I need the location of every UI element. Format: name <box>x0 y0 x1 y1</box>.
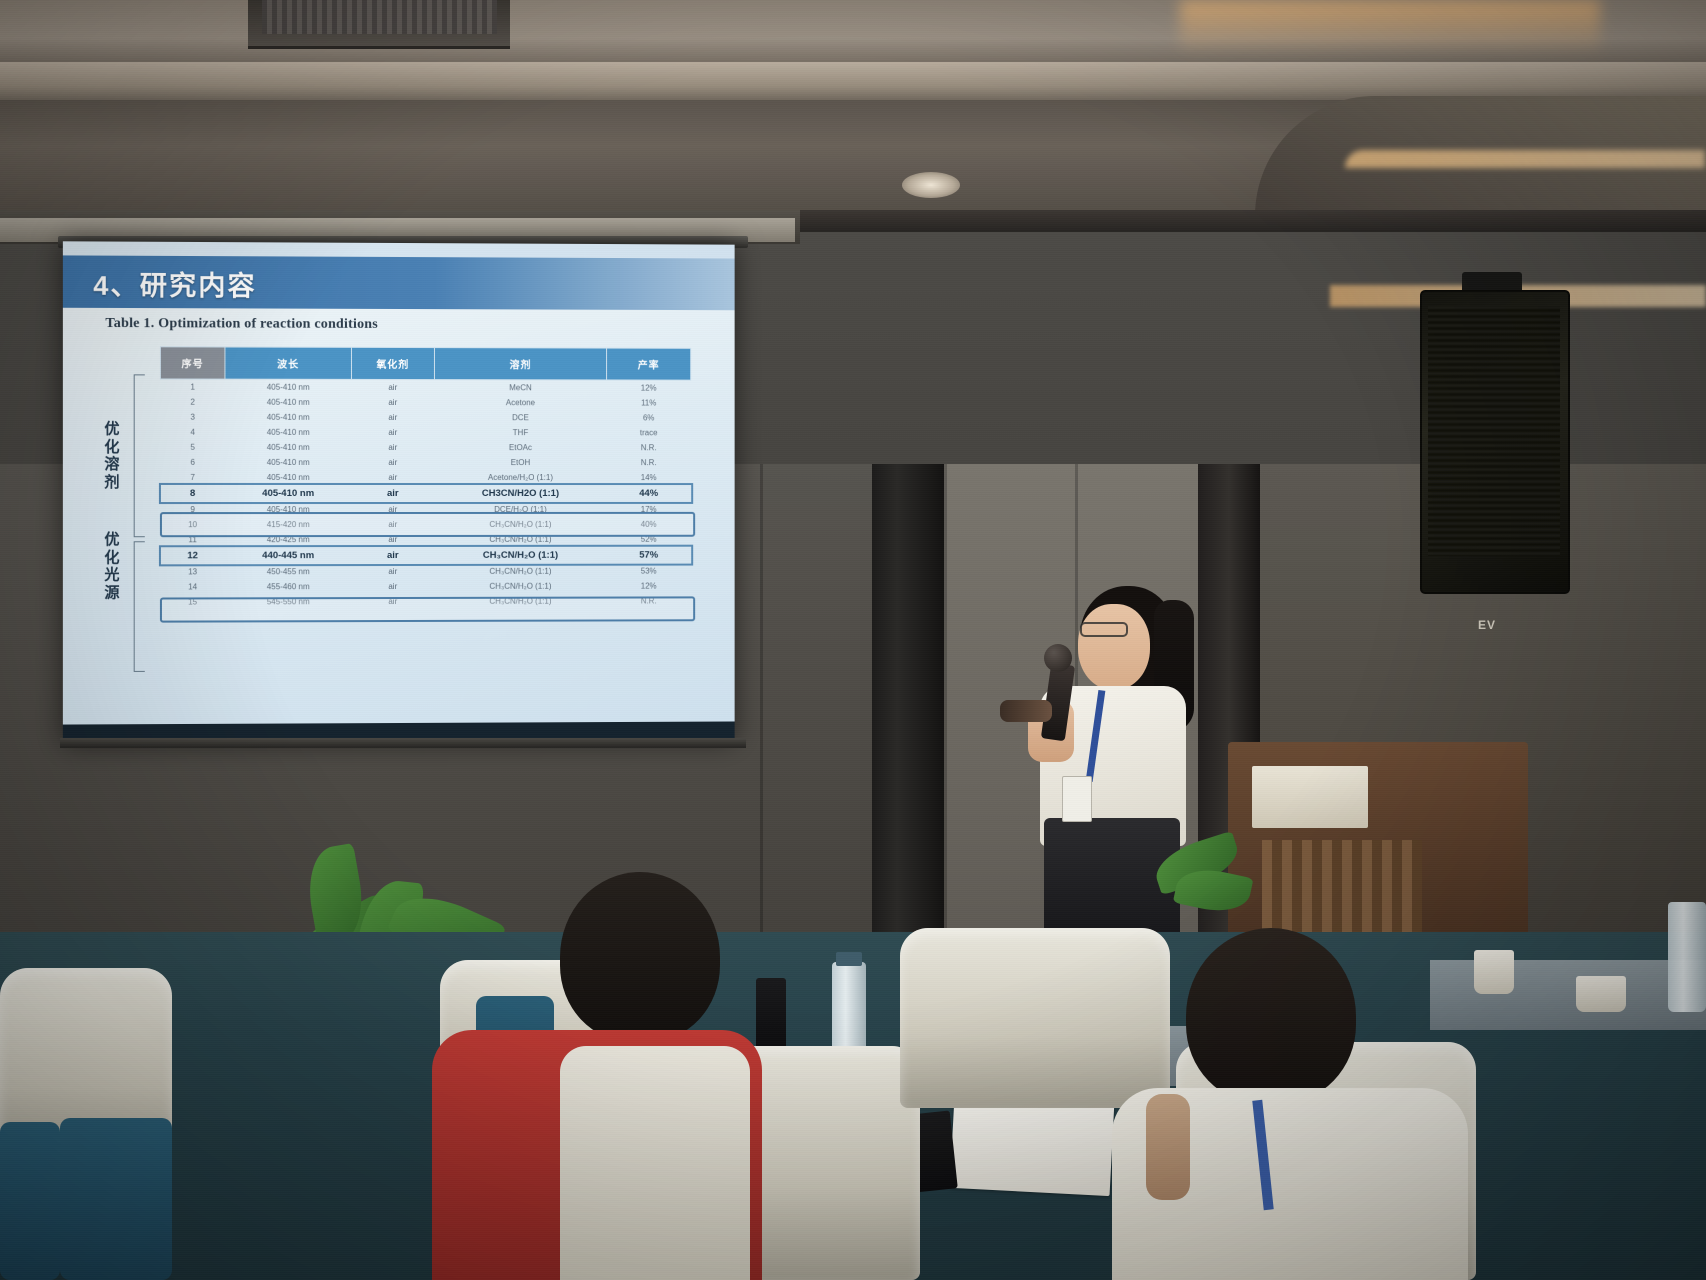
cell-yield: 57% <box>607 547 691 564</box>
cell-wavelength: 405-410 nm <box>225 470 352 485</box>
cell-solvent: CH₃CN/H₂O (1:1) <box>434 532 607 547</box>
cell-entry: 3 <box>160 410 224 425</box>
cell-entry: 5 <box>160 440 224 455</box>
chair <box>900 928 1170 1108</box>
cell-oxidant: air <box>351 470 434 485</box>
ceiling-cove-light-right <box>1180 0 1600 54</box>
conference-room-photo: EV 4、研究内容 Table 1. Optimization of react… <box>0 0 1706 1280</box>
cell-entry: 9 <box>160 502 224 517</box>
chair-back-overlap <box>560 1046 750 1280</box>
cell-entry: 15 <box>160 594 224 609</box>
cell-yield: N.R. <box>607 440 691 455</box>
cell-solvent: Acetone/H₂O (1:1) <box>434 470 607 485</box>
table-row: 6405-410 nmairEtOHN.R. <box>160 455 690 470</box>
table-row: 5405-410 nmairEtOAcN.R. <box>160 440 690 455</box>
microphone-head <box>1044 644 1072 672</box>
audience-head <box>560 872 720 1042</box>
cell-entry: 7 <box>160 470 224 485</box>
cell-solvent: EtOAc <box>434 440 607 455</box>
cell-oxidant: air <box>351 547 434 564</box>
cell-yield: 6% <box>607 410 691 425</box>
cell-solvent: CH₃CN/H₂O (1:1) <box>434 547 607 564</box>
table-row: 2405-410 nmairAcetone11% <box>160 395 690 411</box>
cell-solvent: CH3CN/H2O (1:1) <box>434 485 607 502</box>
table-caption: Table 1. Optimization of reaction condit… <box>105 316 378 333</box>
audience-head <box>1186 928 1356 1104</box>
cell-entry: 1 <box>160 379 224 395</box>
cell-oxidant: air <box>351 594 434 609</box>
cell-yield: 12% <box>607 579 691 594</box>
water-bottle <box>832 962 866 1054</box>
projection-screen: 4、研究内容 Table 1. Optimization of reaction… <box>63 241 735 744</box>
table-row: 3405-410 nmairDCE6% <box>160 410 690 426</box>
chair-back-dark <box>60 1118 172 1280</box>
group-label-solvent: 优化溶剂 <box>101 421 123 492</box>
cell-wavelength: 545-550 nm <box>225 594 352 609</box>
cell-solvent: CH₃CN/H₂O (1:1) <box>434 579 607 594</box>
table-row: 7405-410 nmairAcetone/H₂O (1:1)14% <box>160 470 690 485</box>
cell-wavelength: 440-445 nm <box>225 547 352 564</box>
table-header: 序号 波长 氧化剂 溶剂 产率 <box>160 347 690 380</box>
podium-plaque <box>1252 766 1368 828</box>
cell-oxidant: air <box>351 517 434 532</box>
group-label-light: 优化光源 <box>101 531 123 602</box>
cell-wavelength: 415-420 nm <box>225 517 352 532</box>
cell-solvent: DCE/H₂O (1:1) <box>434 502 607 517</box>
cell-yield: 14% <box>607 470 691 485</box>
table-row: 15545-550 nmairCH₃CN/H₂O (1:1)N.R. <box>160 593 690 609</box>
podium-slats <box>1262 840 1422 936</box>
cell-solvent: CH₃CN/H₂O (1:1) <box>434 594 607 609</box>
table-header-row: 序号 波长 氧化剂 溶剂 产率 <box>160 347 690 380</box>
col-header-yield: 产率 <box>607 348 691 380</box>
cell-solvent: MeCN <box>434 380 607 396</box>
cell-oxidant: air <box>351 425 434 440</box>
side-desk <box>1430 960 1706 1030</box>
cell-wavelength: 455-460 nm <box>225 579 352 594</box>
cell-entry: 13 <box>160 564 224 579</box>
cell-entry: 11 <box>160 532 224 547</box>
paper-cup <box>1576 976 1626 1012</box>
table-row: 9405-410 nmairDCE/H₂O (1:1)17% <box>160 502 690 517</box>
presenter-badge <box>1062 776 1092 822</box>
cell-yield: trace <box>607 425 691 440</box>
ceiling-vent <box>248 0 510 49</box>
ceiling-cove-light <box>530 0 1230 62</box>
paper-cup <box>1474 950 1514 994</box>
presenter-face <box>1078 604 1150 690</box>
cell-oxidant: air <box>351 532 434 547</box>
cell-wavelength: 405-410 nm <box>225 440 352 455</box>
pa-speaker <box>1420 290 1570 594</box>
cell-oxidant: air <box>351 395 434 410</box>
slide-surface: 4、研究内容 Table 1. Optimization of reaction… <box>63 241 735 724</box>
slide-title: 4、研究内容 <box>93 264 256 304</box>
ceiling <box>0 0 1706 232</box>
cell-solvent: THF <box>434 425 607 440</box>
table-body: 1405-410 nmairMeCN12%2405-410 nmairAceto… <box>160 379 690 610</box>
cell-entry: 4 <box>160 425 224 440</box>
cell-wavelength: 405-410 nm <box>225 455 352 470</box>
cell-oxidant: air <box>351 440 434 455</box>
table-row: 12440-445 nmairCH₃CN/H₂O (1:1)57% <box>160 547 690 565</box>
table-row: 1405-410 nmairMeCN12% <box>160 379 690 396</box>
cell-solvent: Acetone <box>434 395 607 410</box>
group-brace-light <box>134 541 145 672</box>
cell-wavelength: 405-410 nm <box>225 379 352 395</box>
phone-stand <box>756 978 786 1052</box>
slide-body: Table 1. Optimization of reaction condit… <box>63 308 735 725</box>
ceiling-accent-strip <box>1345 150 1705 168</box>
cell-wavelength: 405-410 nm <box>225 395 352 410</box>
cell-solvent: EtOH <box>434 455 607 470</box>
cell-oxidant: air <box>351 502 434 517</box>
bottle-cap <box>836 952 862 966</box>
cell-entry: 8 <box>160 485 224 502</box>
cell-yield: 12% <box>607 380 691 396</box>
cell-yield: N.R. <box>607 593 691 608</box>
table-row: 11420-425 nmairCH₃CN/H₂O (1:1)52% <box>160 532 690 547</box>
cell-yield: 53% <box>607 564 691 579</box>
chair-back-dark <box>0 1122 60 1280</box>
optimization-table: 序号 波长 氧化剂 溶剂 产率 1405-410 nmairMeCN12%240… <box>160 346 691 609</box>
cell-entry: 10 <box>160 517 224 532</box>
vent-louvers <box>262 0 497 34</box>
cell-oxidant: air <box>351 379 434 395</box>
table-row: 8405-410 nmairCH3CN/H2O (1:1)44% <box>160 485 690 502</box>
cell-entry: 6 <box>160 455 224 470</box>
water-bottle <box>1668 902 1706 1012</box>
cell-wavelength: 405-410 nm <box>225 410 352 425</box>
col-header-oxidant: 氧化剂 <box>351 347 434 379</box>
screen-bottom-bar <box>60 738 746 748</box>
cell-solvent: CH₃CN/H₂O (1:1) <box>434 517 607 532</box>
cell-wavelength: 405-410 nm <box>225 485 352 502</box>
cell-solvent: DCE <box>434 410 607 425</box>
document-page <box>950 1096 1115 1196</box>
table-row: 10415-420 nmairCH₃CN/H₂O (1:1)40% <box>160 517 690 532</box>
cell-wavelength: 450-455 nm <box>225 564 352 579</box>
cell-wavelength: 420-425 nm <box>225 532 352 547</box>
col-header-entry: 序号 <box>160 347 224 379</box>
cell-yield: 11% <box>607 395 691 410</box>
cell-wavelength: 405-410 nm <box>225 502 352 517</box>
table-row: 4405-410 nmairTHFtrace <box>160 425 690 441</box>
table-row: 13450-455 nmairCH₃CN/H₂O (1:1)53% <box>160 564 690 580</box>
table-row: 14455-460 nmairCH₃CN/H₂O (1:1)12% <box>160 579 690 595</box>
cell-wavelength: 405-410 nm <box>225 425 352 440</box>
cell-oxidant: air <box>351 579 434 594</box>
speaker-grille <box>1428 306 1560 556</box>
cell-entry: 14 <box>160 579 224 594</box>
cell-entry: 2 <box>160 395 224 410</box>
cell-yield: 40% <box>607 517 691 532</box>
ceiling-downlight <box>902 172 960 198</box>
group-brace-solvent <box>134 374 145 537</box>
speaker-brand-logo: EV <box>1478 618 1496 632</box>
cell-oxidant: air <box>351 564 434 579</box>
cell-oxidant: air <box>351 485 434 502</box>
cell-solvent: CH₃CN/H₂O (1:1) <box>434 564 607 579</box>
cell-yield: 17% <box>607 502 691 517</box>
cell-yield: 44% <box>607 485 691 502</box>
col-header-wavelength: 波长 <box>225 347 352 379</box>
cell-oxidant: air <box>351 455 434 470</box>
cell-oxidant: air <box>351 410 434 425</box>
cell-entry: 12 <box>160 547 224 564</box>
presenter-held-object <box>1000 700 1052 722</box>
cell-yield: N.R. <box>607 455 691 470</box>
col-header-solvent: 溶剂 <box>434 348 607 380</box>
presenter-glasses <box>1080 622 1128 637</box>
cell-yield: 52% <box>607 532 691 547</box>
audience-arm <box>1146 1094 1190 1200</box>
